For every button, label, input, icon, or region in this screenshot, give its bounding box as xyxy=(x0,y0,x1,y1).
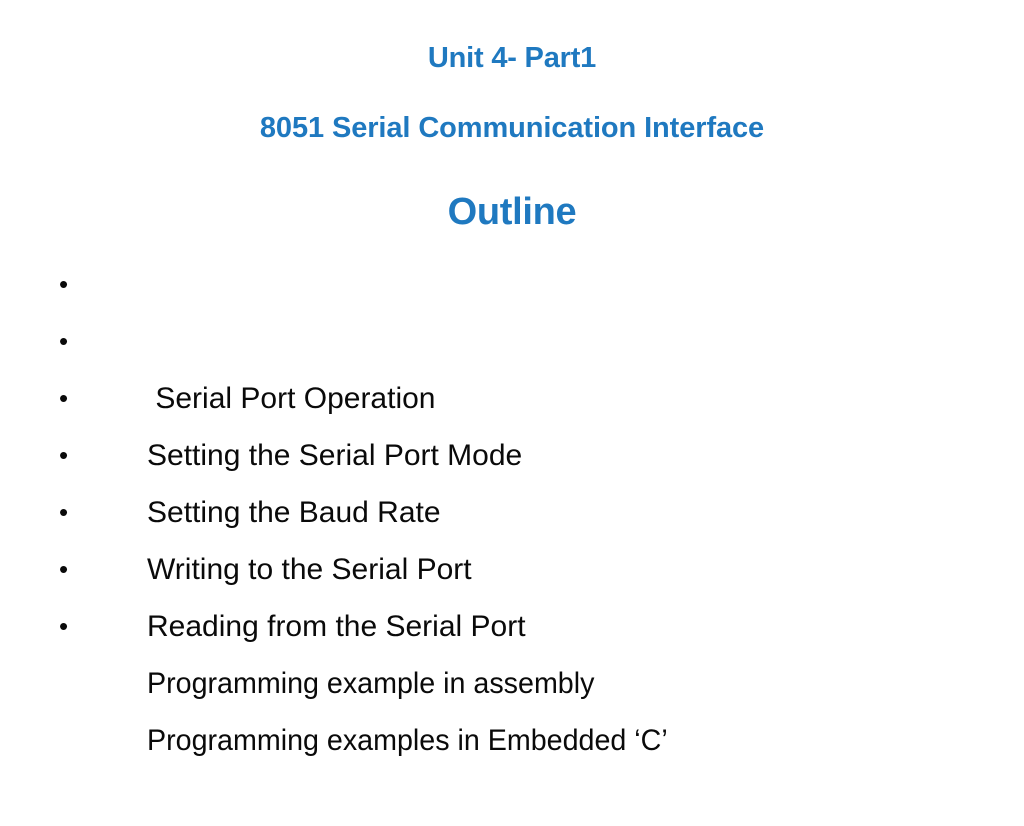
bullet-point-icon: • xyxy=(59,370,79,427)
outline-heading: Outline xyxy=(0,189,1024,235)
bullet-point-icon: • xyxy=(59,598,79,655)
list-item: • Programming examples in Embedded ‘C’ xyxy=(56,598,996,655)
list-item: • Programming example in assembly xyxy=(56,541,996,598)
list-item: • Serial Port Operation xyxy=(56,256,996,313)
list-item-label: Programming examples in Embedded ‘C’ xyxy=(147,712,668,769)
bullet-point-icon: • xyxy=(59,427,79,484)
bullet-point-icon: • xyxy=(59,256,79,313)
list-item-label: Programming example in assembly xyxy=(147,655,594,712)
bullet-point-icon: • xyxy=(59,541,79,598)
bullet-point-icon: • xyxy=(59,313,79,370)
outline-bullet-list: • Serial Port Operation • Setting the Se… xyxy=(56,256,996,655)
list-item: • Setting the Baud Rate xyxy=(56,370,996,427)
list-item: • Reading from the Serial Port xyxy=(56,484,996,541)
slide-canvas: Unit 4- Part1 8051 Serial Communication … xyxy=(0,0,1024,768)
list-item: • Writing to the Serial Port xyxy=(56,427,996,484)
slide-title-line-2: 8051 Serial Communication Interface xyxy=(0,110,1024,146)
list-item: • Setting the Serial Port Mode xyxy=(56,313,996,370)
slide-title-line-1: Unit 4- Part1 xyxy=(0,40,1024,76)
bullet-point-icon: • xyxy=(59,484,79,541)
